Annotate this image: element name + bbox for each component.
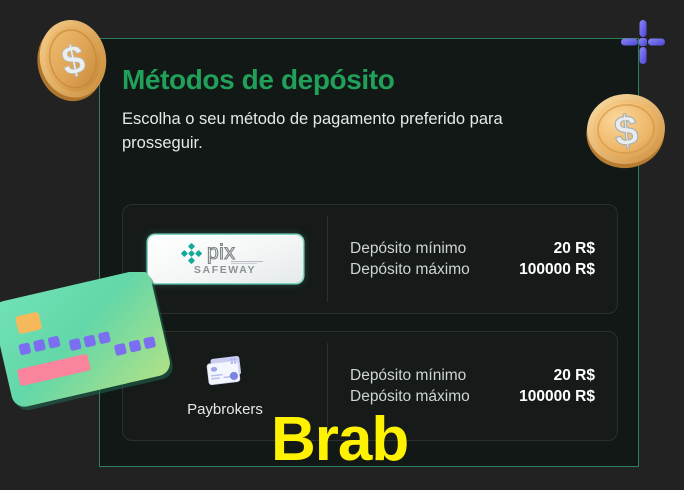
- method-limits-area: Depósito mínimo 20 R$ Depósito máximo 10…: [328, 237, 617, 282]
- pix-logo: pix: [181, 242, 269, 264]
- limit-value: 100000 R$: [519, 261, 595, 279]
- method-logo-area: pix SAFEWAY: [123, 235, 327, 283]
- limit-value: 100000 R$: [519, 388, 595, 406]
- method-limits-area: Depósito mínimo 20 R$ Depósito máximo 10…: [328, 364, 617, 409]
- pix-logo-caption: SAFEWAY: [194, 265, 256, 276]
- limit-value: 20 R$: [554, 240, 595, 258]
- credit-card-icon: [203, 354, 247, 392]
- method-logo-area: Paybrokers: [123, 354, 327, 418]
- svg-text:pix: pix: [207, 241, 235, 264]
- payment-method-card-paybrokers[interactable]: Paybrokers Depósito mínimo 20 R$ Depósit…: [122, 331, 618, 441]
- limit-value: 20 R$: [554, 367, 595, 385]
- pix-safeway-logo-tile[interactable]: pix SAFEWAY: [148, 235, 303, 283]
- limit-label: Depósito mínimo: [350, 367, 466, 385]
- pix-diamond-icon: [181, 243, 202, 264]
- limit-label: Depósito máximo: [350, 261, 470, 279]
- payment-method-card-pix-safeway[interactable]: pix SAFEWAY Depósito mínimo 20 R$: [122, 204, 618, 314]
- paybrokers-label: Paybrokers: [187, 401, 263, 418]
- limit-row-maximum: Depósito máximo 100000 R$: [350, 261, 595, 279]
- limit-label: Depósito máximo: [350, 388, 470, 406]
- panel-content: Métodos de depósito Escolha o seu método…: [100, 39, 638, 466]
- limit-row-minimum: Depósito mínimo 20 R$: [350, 240, 595, 258]
- page-title: Métodos de depósito: [122, 65, 616, 96]
- deposit-methods-panel: Métodos de depósito Escolha o seu método…: [99, 38, 639, 467]
- page-subtitle: Escolha o seu método de pagamento prefer…: [122, 108, 574, 156]
- limit-row-maximum: Depósito máximo 100000 R$: [350, 388, 595, 406]
- payment-method-list: pix SAFEWAY Depósito mínimo 20 R$: [122, 204, 618, 458]
- limit-row-minimum: Depósito mínimo 20 R$: [350, 367, 595, 385]
- svg-text:$: $: [58, 37, 89, 85]
- paybrokers-logo-group[interactable]: Paybrokers: [187, 354, 263, 418]
- pix-wordmark: pix: [207, 241, 269, 265]
- limit-label: Depósito mínimo: [350, 240, 466, 258]
